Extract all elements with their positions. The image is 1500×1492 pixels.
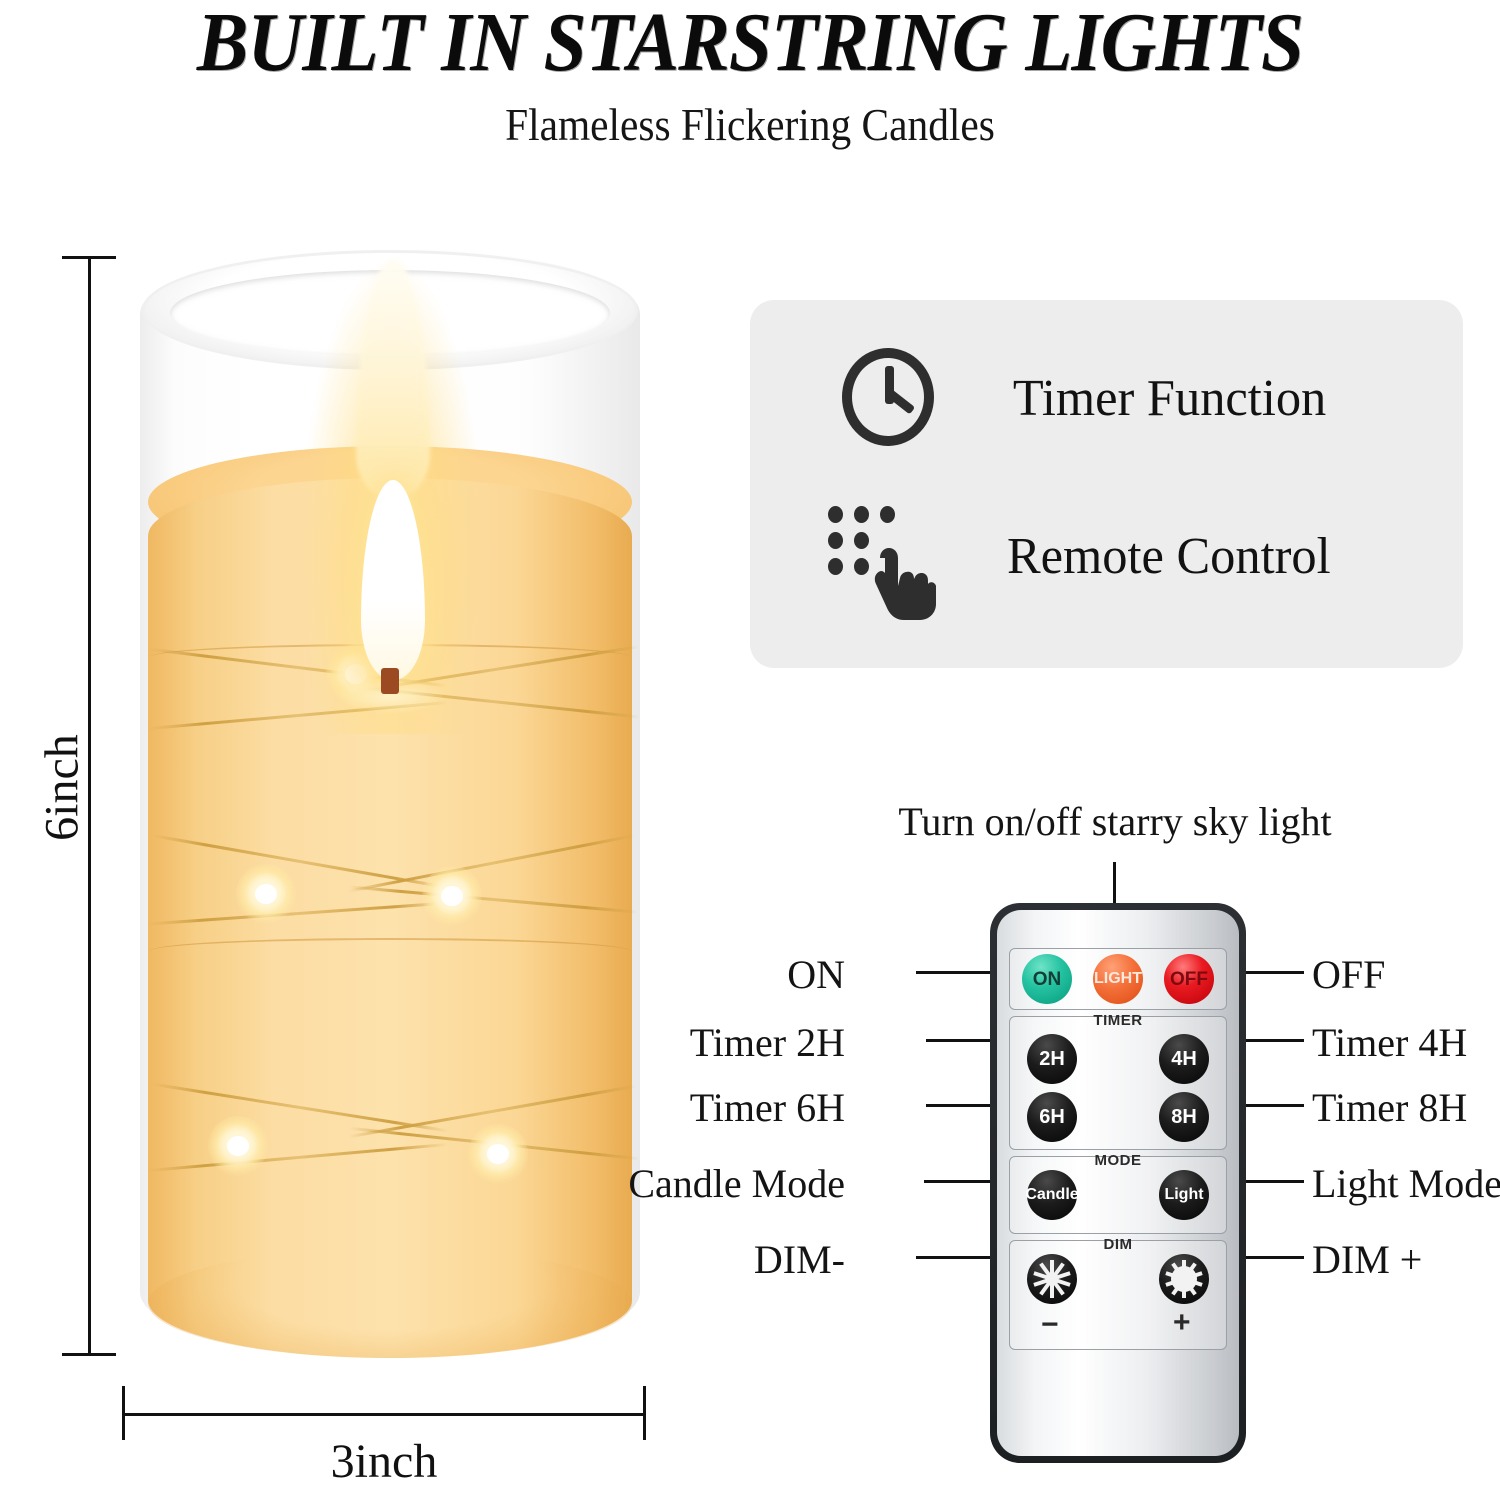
dim-minus-symbol: − bbox=[1041, 1310, 1059, 1340]
dim-group-label: DIM bbox=[997, 1236, 1239, 1253]
width-dimension-line bbox=[122, 1413, 646, 1416]
dim-plus-symbol: + bbox=[1173, 1308, 1191, 1338]
candle-product-image bbox=[140, 248, 640, 1358]
candle-mode-button[interactable]: Candle bbox=[1027, 1170, 1077, 1220]
light-mode-button[interactable]: Light bbox=[1159, 1170, 1209, 1220]
remote-faceplate: ON LIGHT OFF TIMER 2H 4H 6H 8H MODE Cand… bbox=[997, 910, 1239, 1456]
off-button[interactable]: OFF bbox=[1164, 954, 1214, 1004]
wax-seam bbox=[150, 938, 630, 964]
led-light bbox=[236, 864, 296, 924]
callout-label-light-mode: Light Mode bbox=[1312, 1160, 1500, 1207]
width-dimension-cap-right bbox=[643, 1386, 646, 1440]
callout-label-timer-2h: Timer 2H bbox=[690, 1019, 845, 1066]
remote-top-callout-label: Turn on/off starry sky light bbox=[860, 798, 1370, 845]
feature-label-remote: Remote Control bbox=[1007, 527, 1331, 586]
dim-down-button[interactable] bbox=[1027, 1254, 1077, 1304]
led-light bbox=[422, 866, 482, 926]
dim-up-button[interactable] bbox=[1159, 1254, 1209, 1304]
height-dimension-cap-bottom bbox=[62, 1353, 116, 1356]
light-button[interactable]: LIGHT bbox=[1093, 954, 1143, 1004]
callout-label-off: OFF bbox=[1312, 951, 1385, 998]
on-button[interactable]: ON bbox=[1022, 954, 1072, 1004]
feature-item-remote: Remote Control bbox=[822, 496, 1336, 616]
timer-2h-button[interactable]: 2H bbox=[1027, 1034, 1077, 1084]
led-light bbox=[468, 1124, 528, 1184]
timer-4h-button[interactable]: 4H bbox=[1159, 1034, 1209, 1084]
callout-label-timer-8h: Timer 8H bbox=[1312, 1084, 1467, 1131]
callout-label-timer-6h: Timer 6H bbox=[690, 1084, 845, 1131]
page-subtitle: Flameless Flickering Candles bbox=[75, 98, 1425, 151]
timer-8h-button[interactable]: 8H bbox=[1159, 1092, 1209, 1142]
led-light bbox=[208, 1116, 268, 1176]
sun-small-icon bbox=[1032, 1259, 1072, 1299]
callout-label-timer-4h: Timer 4H bbox=[1312, 1019, 1467, 1066]
feature-card: Timer Function Remote Control bbox=[750, 300, 1463, 668]
infographic-canvas: BUILT IN STARSTRING LIGHTS Flameless Fli… bbox=[0, 0, 1500, 1492]
remote-hand-icon bbox=[822, 496, 942, 616]
clock-icon bbox=[828, 338, 948, 458]
height-dimension-label: 6inch bbox=[35, 688, 90, 888]
candle-wax-bottom-shade bbox=[148, 1248, 632, 1358]
callout-label-dim-down: DIM- bbox=[754, 1236, 845, 1283]
feature-label-timer: Timer Function bbox=[1013, 369, 1326, 428]
callout-label-candle-mode: Candle Mode bbox=[628, 1160, 845, 1207]
remote-control-device: ON LIGHT OFF TIMER 2H 4H 6H 8H MODE Cand… bbox=[990, 903, 1246, 1463]
feature-item-timer: Timer Function bbox=[828, 338, 1331, 458]
timer-6h-button[interactable]: 6H bbox=[1027, 1092, 1077, 1142]
mode-group-label: MODE bbox=[997, 1152, 1239, 1169]
width-dimension-cap-left bbox=[122, 1386, 125, 1440]
callout-label-on: ON bbox=[787, 951, 845, 998]
height-dimension-cap-top bbox=[62, 256, 116, 259]
callout-label-dim-up: DIM + bbox=[1312, 1236, 1422, 1283]
page-title: BUILT IN STARSTRING LIGHTS bbox=[60, 0, 1440, 91]
timer-group-label: TIMER bbox=[997, 1012, 1239, 1029]
sun-large-icon bbox=[1164, 1259, 1204, 1299]
candle-wick bbox=[381, 668, 399, 694]
width-dimension-label: 3inch bbox=[122, 1434, 646, 1489]
